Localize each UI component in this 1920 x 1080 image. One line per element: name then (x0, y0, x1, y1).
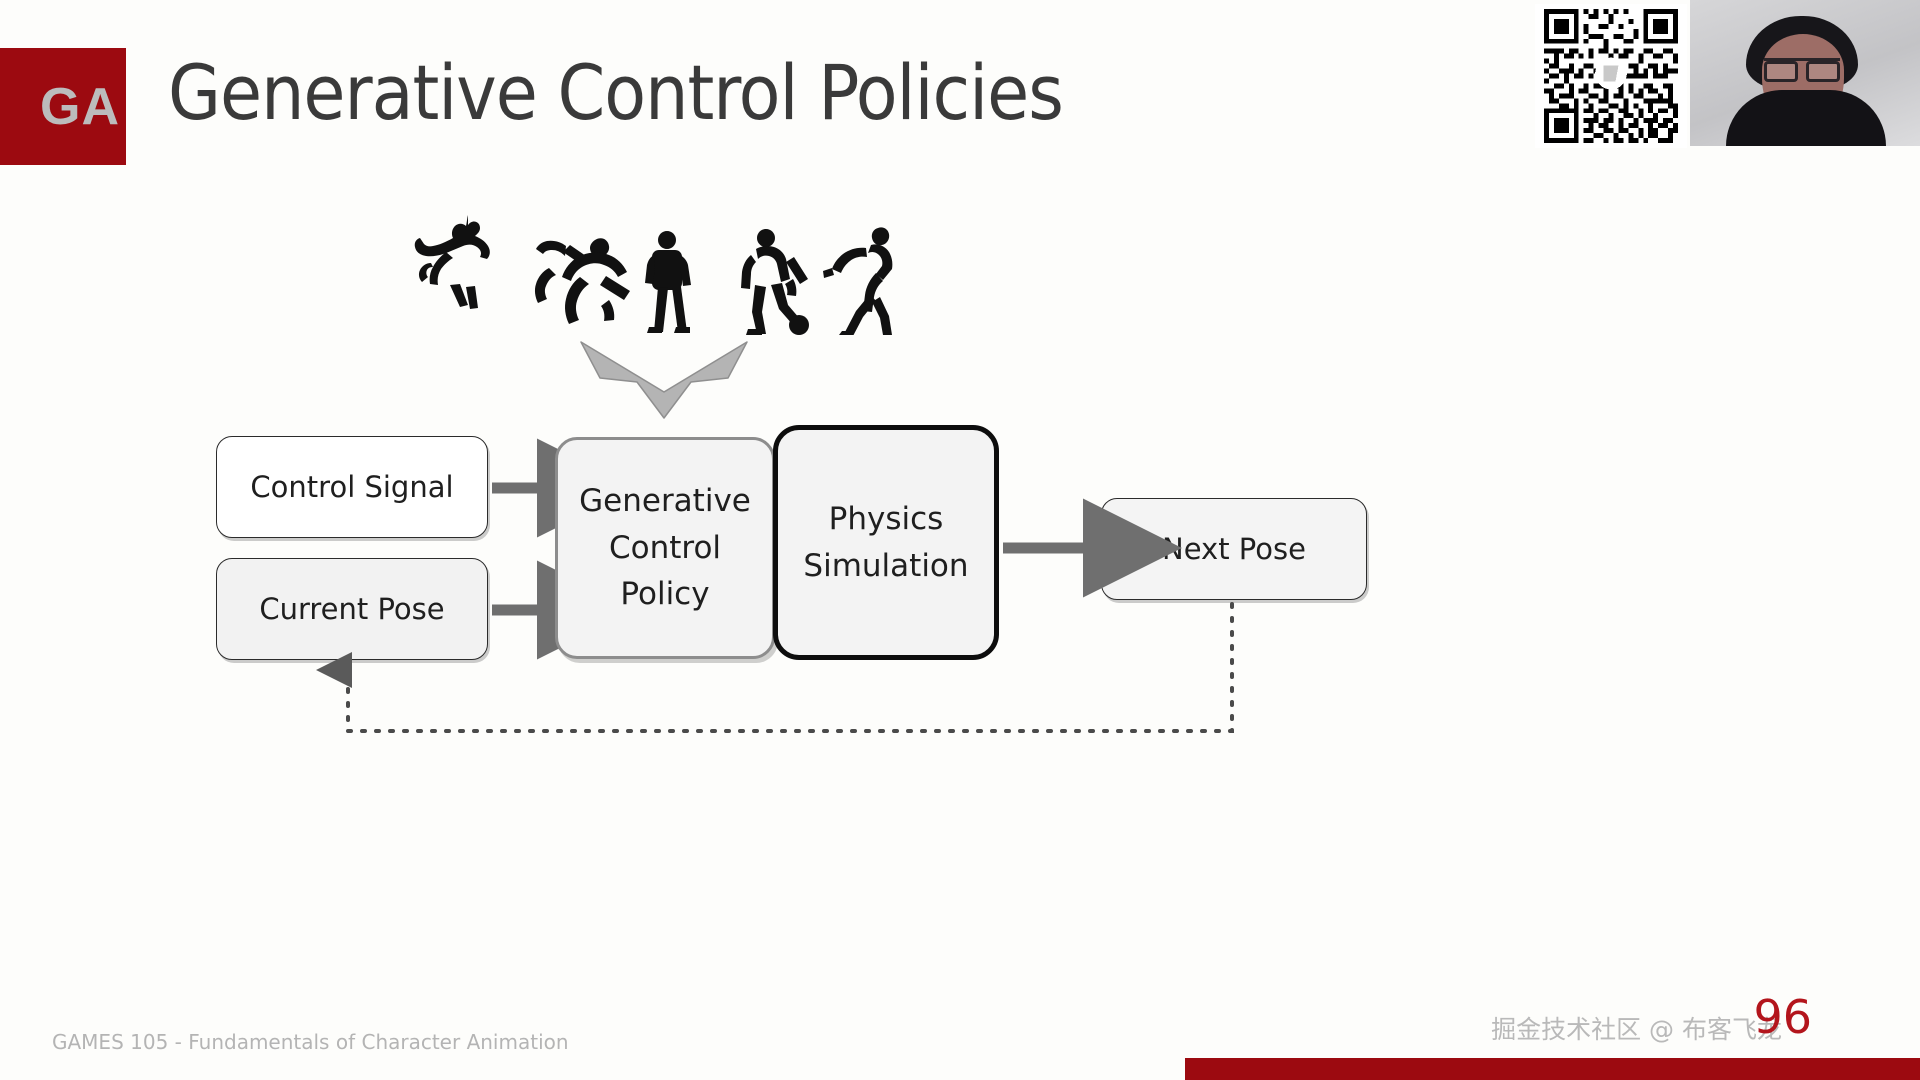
node-physics-simulation-label: Physics Simulation (803, 496, 968, 589)
watermark-label: 掘金技术社区 @ 布客飞龙 (1491, 1010, 1782, 1046)
slide-canvas: GA Generative Control Policies (0, 0, 1920, 1080)
node-next-pose-label: Next Pose (1162, 532, 1306, 566)
node-generative-control-policy[interactable]: Generative Control Policy (555, 437, 775, 659)
node-current-pose-label: Current Pose (259, 592, 444, 626)
node-control-signal[interactable]: Control Signal (216, 436, 488, 538)
node-physics-simulation[interactable]: Physics Simulation (773, 425, 999, 660)
pipeline-diagram: Control Signal Current Pose Generative C… (0, 0, 1920, 1080)
node-current-pose[interactable]: Current Pose (216, 558, 488, 660)
node-next-pose[interactable]: Next Pose (1101, 498, 1367, 600)
node-generative-control-policy-label: Generative Control Policy (579, 478, 751, 618)
node-control-signal-label: Control Signal (250, 470, 453, 504)
footer-course-label: GAMES 105 - Fundamentals of Character An… (52, 1030, 569, 1054)
footer-accent-bar (1185, 1058, 1920, 1080)
page-number: 96 (1753, 994, 1812, 1040)
